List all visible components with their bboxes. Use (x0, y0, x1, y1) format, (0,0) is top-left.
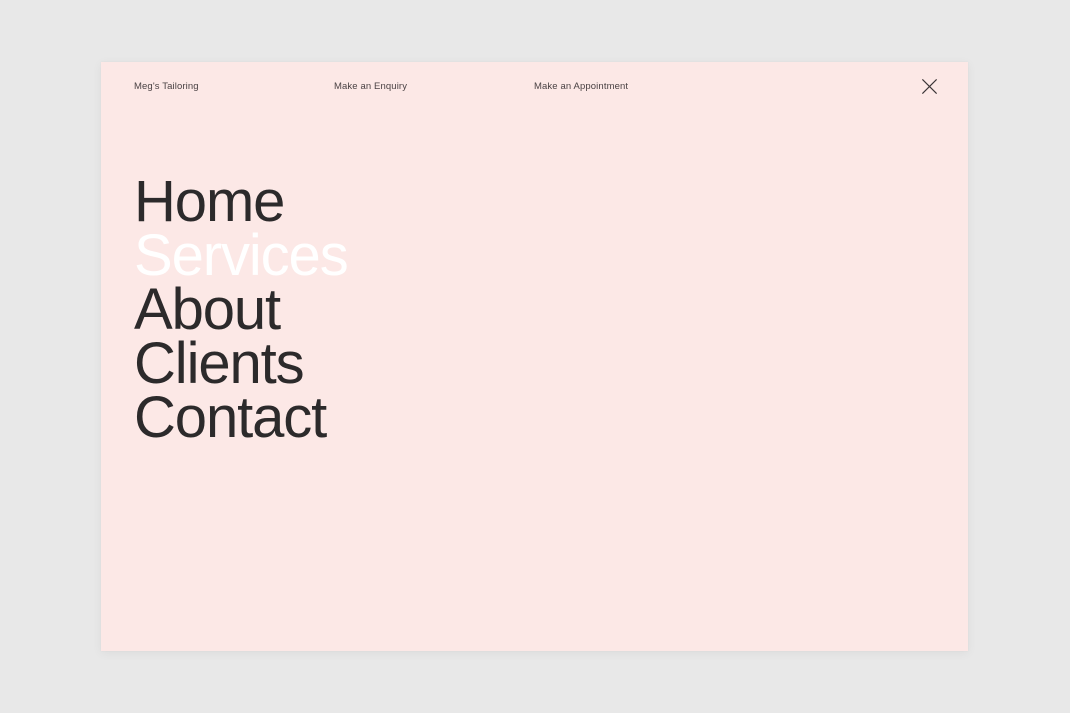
close-button[interactable] (917, 74, 941, 98)
navigation-overlay-panel: Meg's Tailoring Make an Enquiry Make an … (101, 62, 968, 651)
nav-item-home[interactable]: Home (134, 175, 348, 229)
nav-item-about[interactable]: About (134, 283, 348, 337)
nav-item-services[interactable]: Services (134, 229, 348, 283)
primary-navigation-list: Home Services About Clients Contact (134, 175, 348, 445)
site-brand-link[interactable]: Meg's Tailoring (134, 80, 199, 93)
panel-header: Meg's Tailoring Make an Enquiry Make an … (101, 62, 968, 124)
nav-item-contact[interactable]: Contact (134, 391, 348, 445)
nav-item-clients[interactable]: Clients (134, 337, 348, 391)
screen: Meg's Tailoring Make an Enquiry Make an … (0, 0, 1070, 713)
header-link-make-an-enquiry[interactable]: Make an Enquiry (334, 80, 407, 93)
close-icon (922, 79, 937, 94)
header-link-make-an-appointment[interactable]: Make an Appointment (534, 80, 628, 93)
